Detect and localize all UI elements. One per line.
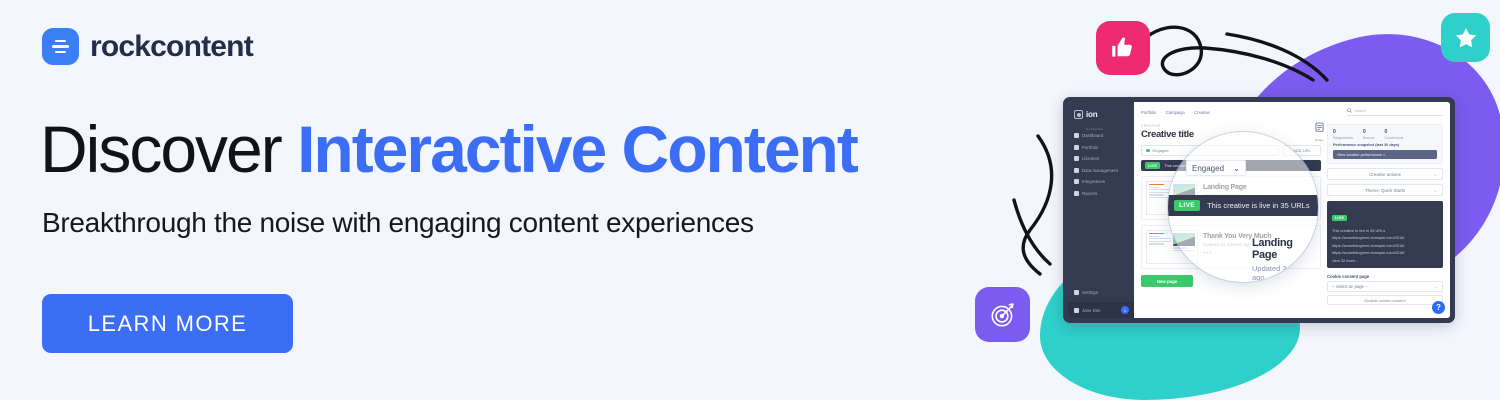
thumbs-up-icon — [1096, 21, 1150, 75]
chevron-down-icon: ⌄ — [1434, 172, 1437, 177]
page-list-item[interactable]: Landing Page Updated 2 days ago ••• — [1141, 176, 1321, 220]
stat-value: 0 — [1333, 129, 1353, 135]
sidebar-item-integrations[interactable]: Integrations — [1074, 179, 1129, 184]
live-status-bar: LIVE This creative is live in 35 URLs — [1141, 160, 1321, 171]
live-message: This creative is live in 35 URLs — [1164, 163, 1219, 168]
plug-icon — [1074, 179, 1079, 184]
promo-banner: rockcontent Discover Interactive Content… — [0, 0, 1500, 400]
cookie-consent-label: Cookie consent page — [1327, 274, 1443, 279]
stat-value: 0 — [1384, 129, 1403, 135]
notification-badge[interactable]: 1 — [1121, 306, 1129, 314]
mock-main: Portfolio · Campaign · Creative search — [1134, 102, 1450, 318]
disable-cookie-consent-button[interactable]: Disable cookie consent — [1327, 295, 1443, 305]
ion-logo: ion — [1074, 110, 1129, 119]
page-title-text: Landing Page — [1203, 184, 1247, 191]
home-icon — [1074, 133, 1079, 138]
brand-logo[interactable]: rockcontent — [42, 28, 253, 65]
sidebar-item-label: Settings — [1082, 290, 1098, 295]
target-icon — [975, 287, 1030, 342]
notes-label: Notes — [1312, 138, 1326, 142]
live-url[interactable]: https://somethinghere.example.com/2018/ — [1332, 243, 1438, 248]
report-icon — [1074, 191, 1079, 196]
search-input[interactable]: search — [1347, 108, 1443, 116]
database-icon — [1074, 168, 1079, 173]
sidebar-user-name: Jane Doe — [1082, 308, 1101, 313]
sidebar-item-label: Portfolio — [1082, 145, 1098, 150]
product-screenshot-mockup: ion by rockcontent Dashboard Portfolio L… — [1063, 97, 1455, 323]
live-url[interactable]: https://somethinghere.example.com/2018/ — [1332, 250, 1438, 255]
view-performance-link[interactable]: View creative performance > — [1333, 150, 1437, 159]
headline-plain: Discover — [40, 112, 297, 186]
mock-sidebar: ion by rockcontent Dashboard Portfolio L… — [1068, 102, 1134, 318]
stat-label: Bounce — [1363, 136, 1375, 140]
sidebar-item-data-management[interactable]: Data management — [1074, 168, 1129, 173]
help-button[interactable]: ? — [1432, 301, 1445, 314]
breadcrumb-campaign[interactable]: Campaign — [1166, 110, 1185, 115]
status-badge: Engaged — [1153, 148, 1169, 153]
stat-bounce: 0 Bounce — [1363, 129, 1375, 140]
live-url[interactable]: https://somethinghere.example.com/2018/ — [1332, 235, 1438, 240]
rockcontent-lines-icon — [42, 28, 79, 65]
chevron-down-icon: ⌄ — [1434, 188, 1437, 193]
live-badge: LIVE — [1332, 215, 1347, 221]
sidebar-item-label: Dashboard — [1082, 133, 1103, 138]
sidebar-item-label: Data management — [1082, 168, 1118, 173]
add-url-button[interactable]: ADD URL — [1283, 145, 1321, 156]
notes-button[interactable]: Notes — [1312, 119, 1326, 142]
sidebar-item-dashboard[interactable]: Dashboard — [1074, 133, 1129, 138]
snapshot-label: Performance snapshot (last 30 days) — [1333, 143, 1437, 147]
page-updated-text: Updated 2 days ago — [1203, 193, 1247, 198]
brand-name: rockcontent — [90, 30, 253, 64]
learn-more-button[interactable]: LEARN MORE — [42, 294, 293, 353]
stat-value: 0 — [1363, 129, 1375, 135]
star-icon — [1441, 13, 1490, 62]
sidebar-user[interactable]: Jane Doe 1 — [1068, 302, 1134, 318]
stat-label: Respondents — [1333, 136, 1353, 140]
ion-logo-text: ion — [1086, 110, 1097, 119]
subheadline: Breakthrough the noise with engaging con… — [42, 207, 754, 239]
briefcase-icon — [1074, 145, 1079, 150]
breadcrumb: Portfolio · Campaign · Creative — [1141, 110, 1210, 115]
page-overflow-menu[interactable]: ••• — [1203, 202, 1247, 208]
sidebar-item-reports[interactable]: Reports — [1074, 191, 1129, 196]
page-title-text: Thank You Very Much — [1203, 233, 1271, 240]
performance-stats: 0 Respondents 0 Bounce 0 Conversions — [1327, 124, 1443, 164]
view-more-link[interactable]: view 32 more... — [1332, 258, 1438, 263]
library-icon — [1074, 156, 1079, 161]
live-urls-card: LIVE This creative is live in 35 URLs ht… — [1327, 201, 1443, 268]
search-icon — [1347, 108, 1352, 113]
sidebar-item-label: Reports — [1082, 191, 1097, 196]
ion-logo-icon — [1074, 110, 1083, 119]
new-page-button[interactable]: New page — [1141, 275, 1193, 287]
cookie-consent-value: -- Select an page -- — [1332, 284, 1368, 289]
curved-lines-doodle — [1000, 128, 1070, 288]
live-badge: LIVE — [1145, 162, 1160, 168]
sidebar-item-settings[interactable]: Settings — [1074, 290, 1129, 295]
page-overflow-menu[interactable]: ••• — [1203, 251, 1271, 257]
stat-conversions: 0 Conversions — [1384, 129, 1403, 140]
page-updated-text: Updated 41 minutes ago — [1203, 242, 1271, 247]
chevron-down-icon: ⌄ — [1435, 284, 1438, 289]
theme-label: Theme: Quick Starts — [1365, 188, 1405, 193]
ion-logo-subtitle: by rockcontent — [1086, 128, 1129, 131]
status-dropdown[interactable]: Engaged — [1141, 145, 1279, 156]
page-thumbnail — [1146, 230, 1198, 264]
stat-label: Conversions — [1384, 136, 1403, 140]
theme-dropdown[interactable]: Theme: Quick Starts ⌄ — [1327, 184, 1443, 196]
sidebar-item-label: Integrations — [1082, 179, 1105, 184]
creative-title: Creative title — [1141, 129, 1321, 140]
live-urls-headline: This creative is live in 35 URLs — [1332, 228, 1438, 233]
page-thumbnail — [1146, 181, 1198, 215]
sidebar-item-libraries[interactable]: Libraries — [1074, 156, 1129, 161]
creative-eyebrow: CREATIVE — [1141, 124, 1321, 128]
status-dot-icon — [1146, 149, 1150, 153]
gear-icon — [1074, 290, 1079, 295]
sidebar-item-label: Libraries — [1082, 156, 1099, 161]
page-list-item[interactable]: Thank You Very Much Updated 41 minutes a… — [1141, 225, 1321, 269]
page-title: Discover Interactive Content — [40, 115, 857, 184]
breadcrumb-creative[interactable]: Creative — [1194, 110, 1210, 115]
headline-accent: Interactive Content — [297, 112, 857, 186]
creative-actions-dropdown[interactable]: Creative actions ⌄ — [1327, 168, 1443, 180]
search-placeholder: search — [1355, 109, 1366, 113]
sidebar-item-portfolio[interactable]: Portfolio — [1074, 145, 1129, 150]
stat-respondents: 0 Respondents — [1333, 129, 1353, 140]
creative-actions-label: Creative actions — [1369, 172, 1400, 177]
breadcrumb-portfolio[interactable]: Portfolio — [1141, 110, 1156, 115]
cookie-consent-select[interactable]: -- Select an page -- ⌄ — [1327, 281, 1443, 292]
avatar — [1074, 308, 1079, 313]
notes-icon — [1315, 122, 1324, 132]
mock-sidebar-nav: Dashboard Portfolio Libraries Data manag… — [1074, 133, 1129, 196]
